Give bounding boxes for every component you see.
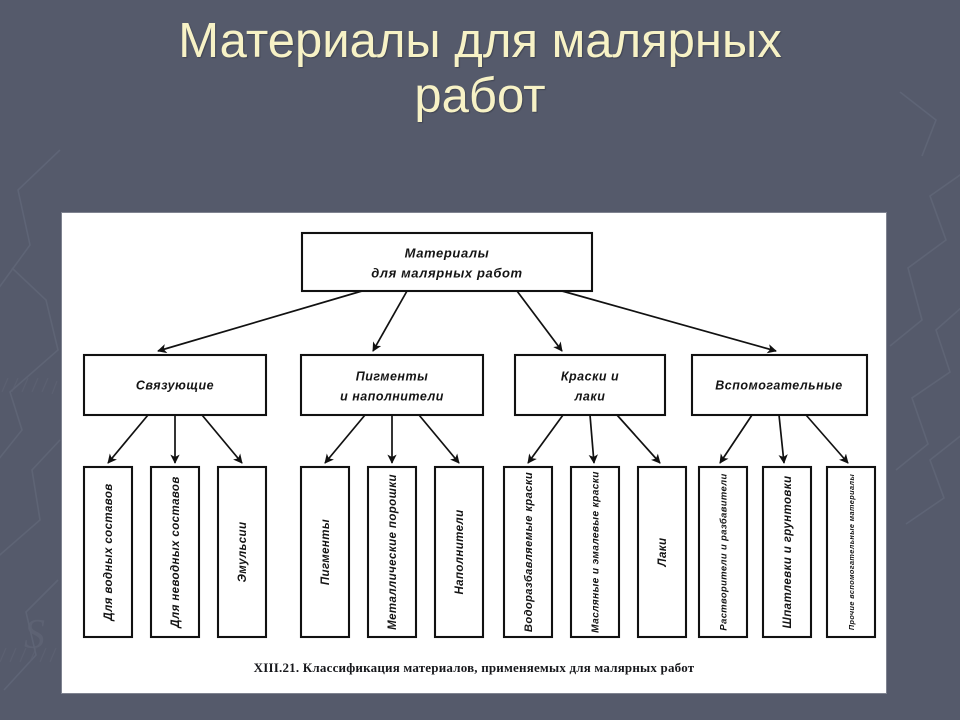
connector-group-1-to-child-0 bbox=[325, 415, 365, 463]
connector-group-2-to-child-0 bbox=[528, 415, 563, 463]
node-root-label-line1: Материалы bbox=[405, 245, 490, 260]
figure-panel: Материалы для малярных работ Связующие П… bbox=[62, 213, 886, 693]
page-title: Материалы для малярных работ bbox=[60, 14, 900, 125]
node-group-3-child-1-label: Шпатлевки и грунтовки bbox=[782, 476, 794, 629]
node-group-2-label-line1: Краски и bbox=[561, 369, 619, 383]
node-group-0-child-1-label: Для неводных составов bbox=[170, 476, 182, 628]
node-group-2: Краски и лаки bbox=[515, 355, 665, 415]
connector-group-1-to-child-2 bbox=[419, 415, 459, 463]
connector-group-0-to-child-0 bbox=[108, 415, 148, 463]
node-group-2-child-0: Водоразбавляемые краски bbox=[504, 467, 552, 637]
node-root: Материалы для малярных работ bbox=[302, 233, 592, 291]
node-group-2-box bbox=[515, 355, 665, 415]
connector-group-3-to-child-1 bbox=[779, 415, 784, 463]
node-group-0-child-1: Для неводных составов bbox=[151, 467, 199, 637]
node-group-3-child-0-label: Растворители и разбавители bbox=[717, 473, 728, 630]
node-root-label-line2: для малярных работ bbox=[371, 265, 522, 280]
node-group-2-label-line2: лаки bbox=[574, 389, 606, 403]
node-group-3: Вспомогательные bbox=[692, 355, 867, 415]
node-group-1-child-2: Наполнители bbox=[435, 467, 483, 637]
node-group-1-child-1: Металлические порошки bbox=[368, 467, 416, 637]
node-group-1-child-1-label: Металлические порошки bbox=[387, 474, 399, 630]
node-group-0-child-2: Эмульсии bbox=[218, 467, 266, 637]
node-group-3-child-2: Прочие вспомогательные материалы bbox=[827, 467, 875, 637]
classification-diagram: Материалы для малярных работ Связующие П… bbox=[62, 213, 886, 653]
node-group-1-child-2-label: Наполнители bbox=[454, 509, 466, 594]
connector-group-3-to-child-0 bbox=[720, 415, 752, 463]
connector-group-2-to-child-2 bbox=[617, 415, 660, 463]
node-group-0-label-line1: Связующие bbox=[136, 378, 214, 392]
node-group-2-child-2: Лаки bbox=[638, 467, 686, 637]
node-group-0-child-0: Для водных составов bbox=[84, 467, 132, 637]
connector-group-1-children bbox=[325, 415, 459, 463]
connector-group-2-children bbox=[528, 415, 660, 463]
node-root-box bbox=[302, 233, 592, 291]
node-group-3-child-2-label: Прочие вспомогательные материалы bbox=[847, 474, 856, 631]
node-group-2-child-0-label: Водоразбавляемые краски bbox=[523, 472, 535, 632]
node-group-1-child-0: Пигменты bbox=[301, 467, 349, 637]
node-group-3-child-1: Шпатлевки и грунтовки bbox=[763, 467, 811, 637]
connector-group-3-to-child-2 bbox=[806, 415, 848, 463]
node-group-1-label-line2: и наполнители bbox=[340, 389, 444, 403]
connector-root-to-group-2 bbox=[517, 291, 562, 351]
svg-text:S: S bbox=[24, 612, 45, 658]
node-group-1-label-line1: Пигменты bbox=[356, 369, 429, 383]
node-group-0-child-2-label: Эмульсии bbox=[237, 522, 249, 583]
connector-root-to-group-3 bbox=[562, 291, 776, 351]
connector-group-2-to-child-1 bbox=[590, 415, 594, 463]
node-group-0-child-0-label: Для водных составов bbox=[103, 483, 115, 621]
slide-canvas: S Материалы для малярных работ Материалы… bbox=[0, 0, 960, 720]
connector-group-root bbox=[158, 291, 776, 351]
node-group-1-child-0-label: Пигменты bbox=[320, 519, 332, 585]
node-group-1-box bbox=[301, 355, 483, 415]
figure-caption: XIII.21. Классификация материалов, приме… bbox=[62, 660, 886, 676]
node-group-3-label-line1: Вспомогательные bbox=[715, 378, 843, 392]
connector-group-3-children bbox=[720, 415, 848, 463]
node-group-2-child-1: Масляные и эмалевые краски bbox=[571, 467, 619, 637]
connector-root-to-group-0 bbox=[158, 291, 362, 351]
node-group-3-child-0: Растворители и разбавители bbox=[699, 467, 747, 637]
connector-group-0-children bbox=[108, 415, 242, 463]
node-group-0: Связующие bbox=[84, 355, 266, 415]
connector-root-to-group-1 bbox=[373, 291, 407, 351]
node-group-1: Пигменты и наполнители bbox=[301, 355, 483, 415]
node-group-2-child-1-label: Масляные и эмалевые краски bbox=[591, 471, 602, 633]
node-group-2-child-2-label: Лаки bbox=[657, 538, 669, 568]
connector-group-0-to-child-2 bbox=[202, 415, 242, 463]
